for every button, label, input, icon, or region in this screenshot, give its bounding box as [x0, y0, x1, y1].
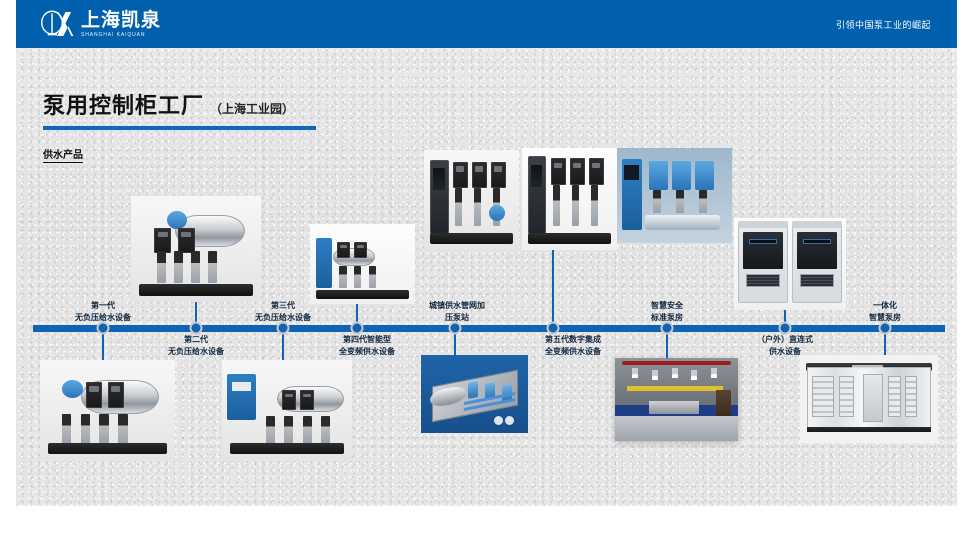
timeline-dot-gen2[interactable]: [190, 322, 203, 335]
title-row: 泵用控制柜工厂 （上海工业园）: [43, 88, 316, 120]
brand-name-en: SHANGHAI KAIQUAN: [81, 33, 161, 38]
timeline-dot-gen5[interactable]: [547, 322, 560, 335]
section-label: 供水产品: [43, 146, 83, 163]
photo-urban-pipeline-booster-station-upper: [617, 148, 732, 243]
page-subtitle: （上海工业园）: [210, 100, 294, 117]
photo-second-generation-non-negative-pressure-unit: [222, 360, 352, 460]
timeline-stem-smart: [666, 334, 668, 360]
timeline-dot-urban[interactable]: [449, 322, 462, 335]
brand-name-cn: 上海凯泉: [81, 11, 161, 30]
brand-logo[interactable]: 上海凯泉 SHANGHAI KAIQUAN: [40, 9, 161, 39]
slide-canvas: 上海凯泉 SHANGHAI KAIQUAN 引领中国泵工业的崛起 泵用控制柜工厂…: [0, 0, 971, 552]
timeline-axis: [33, 325, 945, 332]
timeline-label-gen1: 第一代 无负压给水设备: [75, 300, 131, 323]
timeline-dot-gen4[interactable]: [351, 322, 364, 335]
timeline-label-integrated: 一体化 智慧泵房: [869, 300, 901, 323]
timeline-stem-urban: [454, 334, 456, 356]
photo-third-generation-non-negative-pressure-unit: [131, 196, 261, 302]
timeline-label-urban: 城镇供水管网加 压泵站: [429, 300, 485, 323]
timeline-label-gen3: 第三代 无负压给水设备: [255, 300, 311, 323]
timeline-label-outdoor: （户外）直连式 供水设备: [757, 334, 813, 357]
title-block: 泵用控制柜工厂 （上海工业园） 供水产品: [43, 88, 316, 163]
photo-outdoor-direct-connect-cabinets: [734, 218, 846, 310]
brand-wordmark: 上海凯泉 SHANGHAI KAIQUAN: [81, 11, 161, 38]
photo-integrated-smart-pump-house-container: [800, 355, 938, 443]
bottom-margin: [0, 506, 971, 552]
timeline-dot-smart[interactable]: [661, 322, 674, 335]
timeline-label-smart: 智慧安全 标准泵房: [651, 300, 683, 323]
photo-fourth-generation-vfd-water-supply-unit: [310, 224, 415, 304]
left-margin: [0, 0, 16, 552]
timeline-dot-integrated[interactable]: [879, 322, 892, 335]
photo-first-generation-non-negative-pressure-unit: [40, 360, 175, 460]
timeline-label-gen2: 第二代 无负压给水设备: [168, 334, 224, 357]
timeline-stem-gen5: [552, 248, 554, 326]
photo-smart-safe-standard-pump-room: [615, 358, 738, 441]
timeline-label-gen4: 第四代智能型 全变频供水设备: [339, 334, 395, 357]
title-underline-rule: [43, 126, 316, 130]
timeline-dot-gen1[interactable]: [97, 322, 110, 335]
timeline-label-gen5: 第五代数字集成 全变频供水设备: [545, 334, 601, 357]
photo-fifth-generation-digital-unit-b: [522, 148, 617, 250]
right-margin: [957, 0, 971, 552]
page-title: 泵用控制柜工厂: [43, 88, 204, 120]
page-header: 上海凯泉 SHANGHAI KAIQUAN 引领中国泵工业的崛起: [0, 0, 971, 48]
header-slogan: 引领中国泵工业的崛起: [836, 18, 931, 31]
kaiquan-k-mark-icon: [40, 9, 74, 39]
photo-urban-pipeline-booster-station: [421, 355, 528, 433]
watermark-logo-icon: [494, 414, 522, 428]
photo-fifth-generation-digital-unit-a: [424, 150, 519, 250]
timeline-dot-gen3[interactable]: [277, 322, 290, 335]
timeline-dot-outdoor[interactable]: [779, 322, 792, 335]
